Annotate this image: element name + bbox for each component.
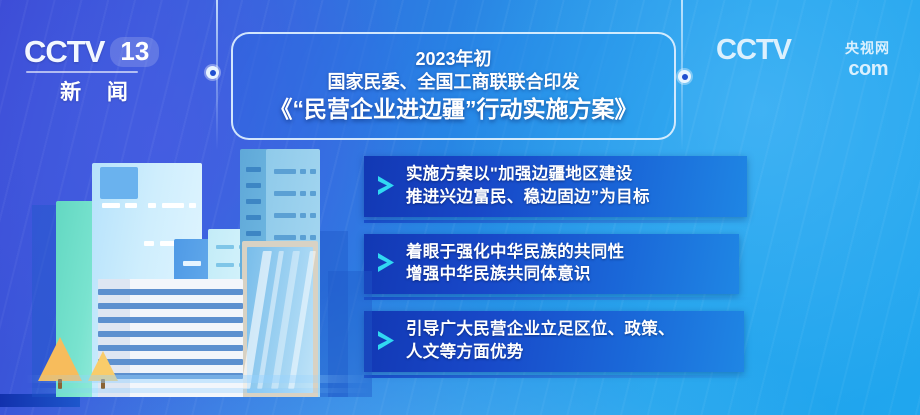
chevron-right-icon bbox=[376, 250, 396, 276]
ground-line-1 bbox=[26, 375, 371, 383]
decor-ring-dot-left bbox=[206, 66, 219, 79]
bullet-text: 着眼于强化中华民族的共同性 增强中华民族共同体意识 bbox=[406, 241, 624, 287]
broadcast-graphic: CCTV 13 新 闻 CCTV 央视网 com 2023年初 国家民委、全国工… bbox=[0, 0, 920, 415]
bullet-list: 实施方案以"加强边疆地区建设 推进兴边富民、稳边固边”为目标 着眼于强化中华民族… bbox=[364, 156, 754, 389]
bullet-bar: 引导广大民营企业立足区位、政策、 人文等方面优势 bbox=[364, 311, 744, 372]
bullet-underline bbox=[364, 220, 754, 223]
bullet-underline bbox=[364, 297, 754, 300]
cctv13-logo: CCTV 13 新 闻 bbox=[24, 34, 160, 100]
decor-ring-dot-right bbox=[678, 70, 691, 83]
chevron-right-icon bbox=[376, 173, 396, 199]
cctv-wordmark: CCTV bbox=[24, 34, 104, 70]
bullet-bar: 着眼于强化中华民族的共同性 增强中华民族共同体意识 bbox=[364, 234, 739, 295]
banner-line-1: 2023年初 bbox=[415, 49, 491, 71]
bullet-bar: 实施方案以"加强边疆地区建设 推进兴边富民、稳边固边”为目标 bbox=[364, 156, 747, 217]
bullet-text: 引导广大民营企业立足区位、政策、 人文等方面优势 bbox=[406, 318, 675, 364]
logo-underline bbox=[26, 71, 138, 73]
watermark-cn-label: 央视网 bbox=[845, 38, 890, 58]
channel-subtitle: 新 闻 bbox=[24, 76, 160, 106]
cctv-com-watermark: CCTV 央视网 com bbox=[716, 36, 892, 88]
bullet-text: 实施方案以"加强边疆地区建设 推进兴边富民、稳边固边”为目标 bbox=[406, 163, 650, 209]
bullet-underline bbox=[364, 375, 754, 378]
list-item: 着眼于强化中华民族的共同性 增强中华民族共同体意识 bbox=[364, 234, 754, 301]
channel-number: 13 bbox=[110, 37, 159, 67]
banner-line-2: 国家民委、全国工商联联合印发 bbox=[328, 71, 580, 94]
chevron-right-icon bbox=[376, 328, 396, 354]
list-item: 引导广大民营企业立足区位、政策、 人文等方面优势 bbox=[364, 311, 754, 378]
ground-line-2 bbox=[26, 388, 371, 393]
building-glass-tower bbox=[242, 241, 318, 397]
watermark-domain: com bbox=[848, 58, 888, 81]
list-item: 实施方案以"加强边疆地区建设 推进兴边富民、稳边固边”为目标 bbox=[364, 156, 754, 223]
city-skyline-illustration bbox=[26, 117, 371, 397]
